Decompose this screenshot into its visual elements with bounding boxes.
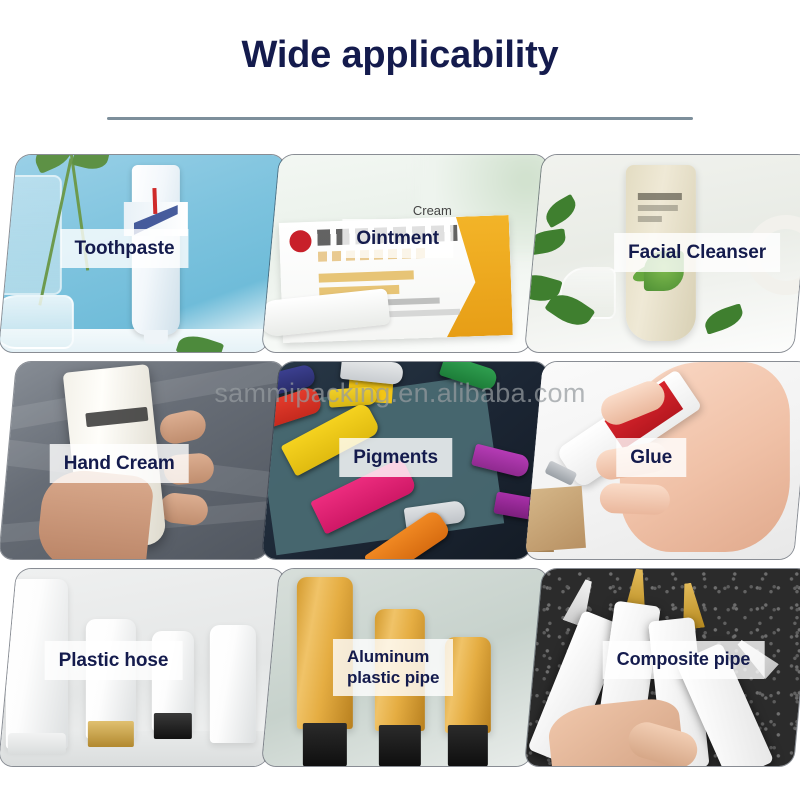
card-label-aluminum-plastic-pipe: Aluminum plastic pipe [333, 639, 453, 696]
page-title: Wide applicability [0, 34, 800, 77]
card-label-pigments: Pigments [339, 438, 452, 477]
card-facial-cleanser[interactable]: Facial Cleanser [525, 155, 800, 352]
title-divider [107, 117, 693, 120]
card-pigments[interactable]: Pigments [262, 362, 548, 559]
card-toothpaste[interactable]: Toothpaste [0, 155, 285, 352]
grid-row-3: Plastic hose Aluminum plastic pipe [0, 564, 800, 771]
grid-row-2: Hand Cream Pigments [0, 357, 800, 564]
card-label-toothpaste: Toothpaste [60, 229, 188, 268]
card-ointment[interactable]: Cream Ointment [262, 155, 548, 352]
card-plastic-hose[interactable]: Plastic hose [0, 569, 285, 766]
card-label-hand-cream: Hand Cream [50, 444, 189, 483]
card-hand-cream[interactable]: Hand Cream [0, 362, 285, 559]
page-root: Wide applicability [0, 0, 800, 800]
page-header: Wide applicability [0, 0, 800, 140]
card-composite-pipe[interactable]: Composite pipe [525, 569, 800, 766]
card-label-composite-pipe: Composite pipe [603, 641, 765, 679]
card-aluminum-plastic-pipe[interactable]: Aluminum plastic pipe [262, 569, 548, 766]
card-glue[interactable]: G17 Glue [525, 362, 800, 559]
card-label-ointment: Ointment [342, 219, 453, 258]
card-label-glue: Glue [616, 438, 686, 477]
grid-row-1: Toothpaste [0, 150, 800, 357]
card-label-facial-cleanser: Facial Cleanser [614, 233, 780, 272]
card-label-plastic-hose: Plastic hose [45, 641, 183, 680]
applications-grid: Toothpaste [0, 150, 800, 800]
